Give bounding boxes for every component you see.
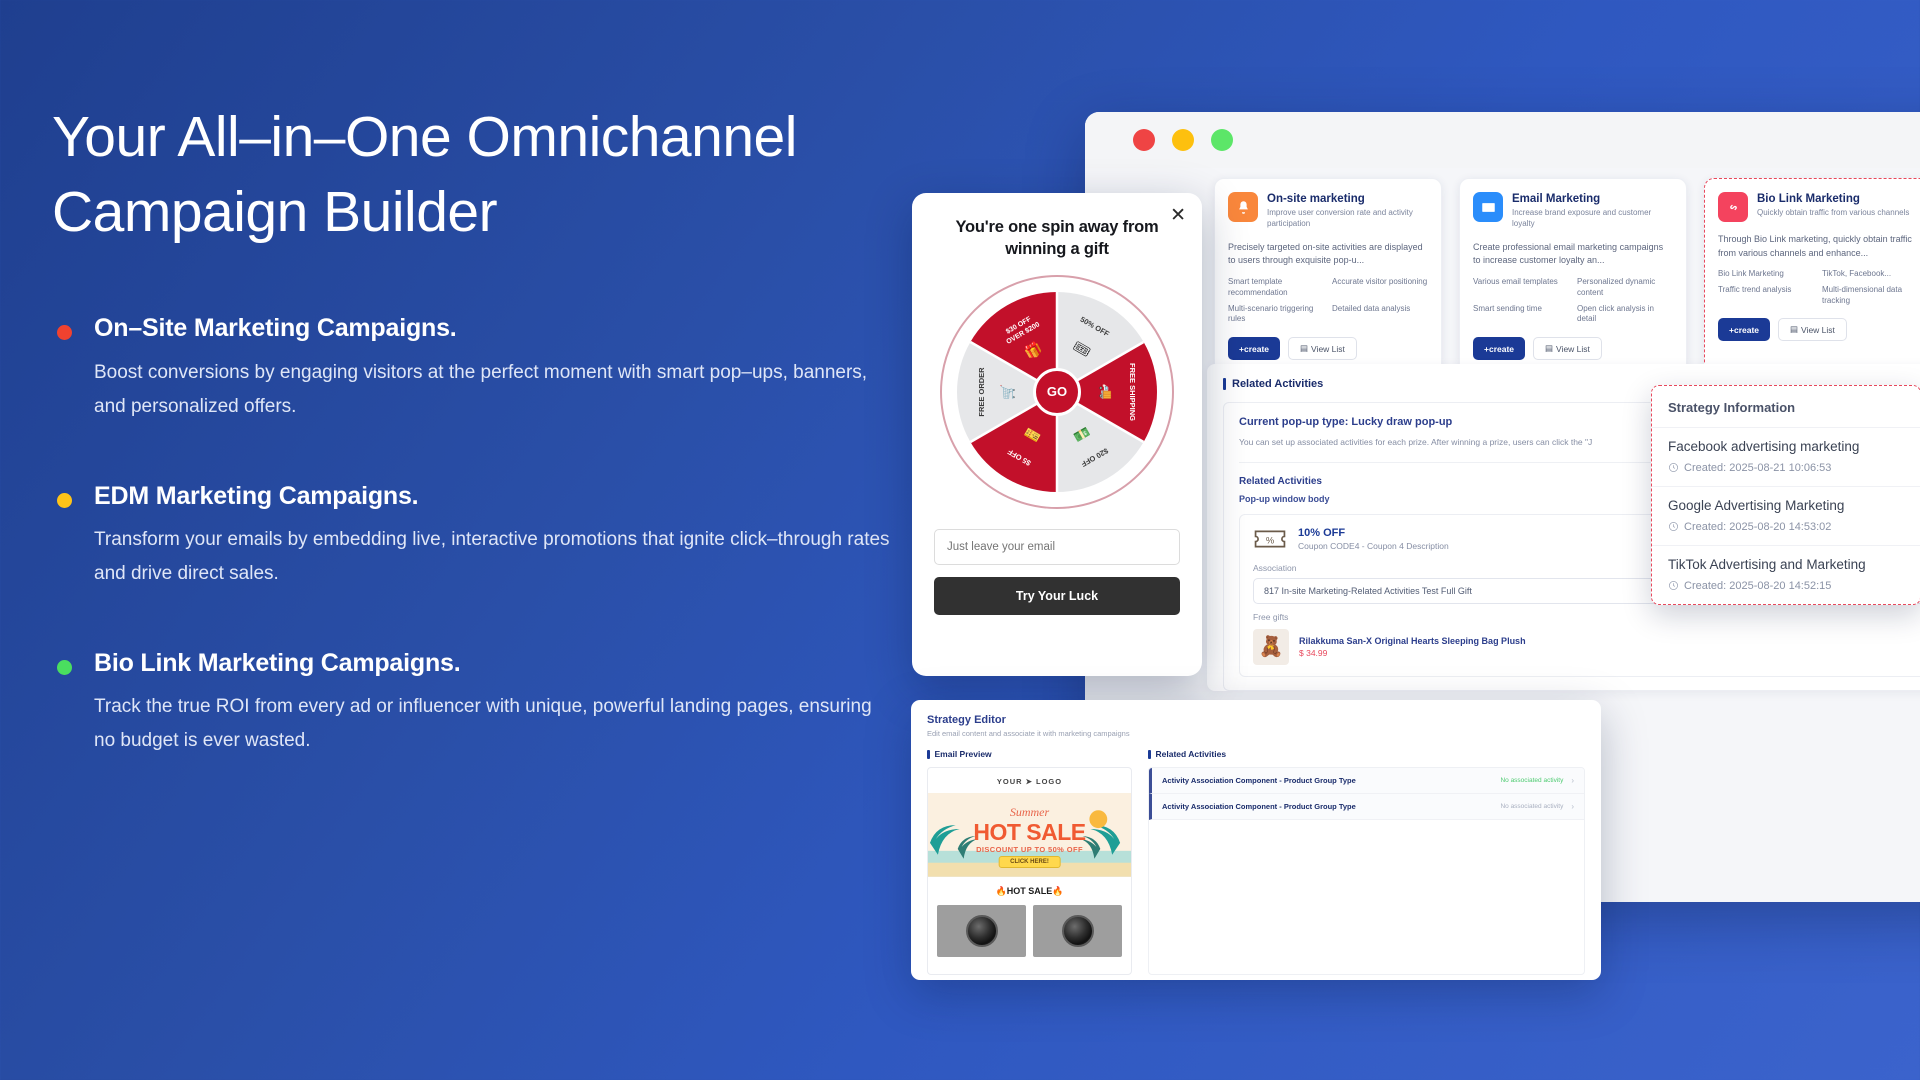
activity-name: Activity Association Component - Product… bbox=[1162, 802, 1356, 811]
card-feature: Multi-scenario triggering rules bbox=[1228, 304, 1324, 326]
strategy-editor-columns: Email Preview YOUR ➤ LOGO bbox=[927, 749, 1585, 975]
email-input[interactable] bbox=[934, 529, 1180, 565]
card-description: Through Bio Link marketing, quickly obta… bbox=[1718, 233, 1918, 260]
strategy-list-item[interactable]: Facebook advertising marketing Created: … bbox=[1652, 427, 1920, 486]
strategy-name: Facebook advertising marketing bbox=[1668, 439, 1904, 456]
card-subtitle: Increase brand exposure and customer loy… bbox=[1512, 208, 1673, 230]
view-list-button[interactable]: ▤ View List bbox=[1778, 318, 1847, 341]
svg-text:FREE SHIPPING: FREE SHIPPING bbox=[1128, 363, 1137, 421]
heading-label: Email Preview bbox=[935, 749, 992, 759]
strategy-created: Created: 2025-08-21 10:06:53 bbox=[1668, 462, 1904, 474]
card-feature: Personalized dynamic content bbox=[1577, 277, 1673, 299]
gift-name: Rilakkuma San-X Original Hearts Sleeping… bbox=[1299, 636, 1526, 646]
card-header: Email Marketing Increase brand exposure … bbox=[1473, 192, 1673, 230]
card-title: Email Marketing bbox=[1512, 192, 1673, 206]
activity-row-right: No associated activity › bbox=[1500, 776, 1574, 785]
related-activities-column: Related Activities Activity Association … bbox=[1148, 749, 1585, 975]
created-label: Created: 2025-08-21 10:06:53 bbox=[1684, 462, 1831, 474]
card-actions: +create ▤ View List bbox=[1718, 318, 1918, 341]
popup-title: You're one spin away from winning a gift bbox=[934, 217, 1180, 261]
minimize-dot[interactable] bbox=[1172, 129, 1194, 151]
card-header: Bio Link Marketing Quickly obtain traffi… bbox=[1718, 192, 1918, 222]
card-feature: TikTok, Facebook... bbox=[1822, 269, 1918, 280]
card-feature-grid: Bio Link Marketing TikTok, Facebook... T… bbox=[1718, 269, 1918, 306]
coupon-description: Coupon CODE4 - Coupon 4 Description bbox=[1298, 541, 1449, 551]
close-dot[interactable] bbox=[1133, 129, 1155, 151]
free-gifts-label: Free gifts bbox=[1253, 612, 1920, 622]
create-button[interactable]: +create bbox=[1228, 337, 1280, 360]
card-feature: Accurate visitor positioning bbox=[1332, 277, 1428, 299]
coupon-name: 10% OFF bbox=[1298, 527, 1449, 539]
strategy-list-item[interactable]: TikTok Advertising and Marketing Created… bbox=[1652, 545, 1920, 604]
card-subtitle: Improve user conversion rate and activit… bbox=[1267, 208, 1428, 230]
close-icon[interactable]: ✕ bbox=[1170, 206, 1186, 225]
activity-status: No associated activity bbox=[1500, 803, 1563, 810]
wheel-outer-ring: 50% OFF FREE SHIPPING $20 OFF $5 OFF FRE… bbox=[940, 275, 1174, 509]
strategy-info-heading: Strategy Information bbox=[1652, 386, 1920, 427]
spin-go-button[interactable]: GO bbox=[1033, 368, 1081, 416]
heading-bar bbox=[1223, 378, 1226, 390]
activity-row-right: No associated activity › bbox=[1500, 802, 1574, 811]
email-summer-label: Summer bbox=[928, 805, 1131, 820]
hero-section: Your All–in–One Omnichannel Campaign Bui… bbox=[52, 100, 952, 758]
gift-thumbnail: 🧸 bbox=[1253, 629, 1289, 665]
email-hot-sale-label: HOT SALE bbox=[928, 819, 1131, 846]
list-icon: ▤ bbox=[1300, 343, 1308, 354]
feature-item-edm: EDM Marketing Campaigns. Transform your … bbox=[52, 480, 952, 591]
view-list-label: View List bbox=[1556, 344, 1590, 354]
strategy-information-panel: Strategy Information Facebook advertisin… bbox=[1651, 385, 1920, 605]
activity-row[interactable]: Activity Association Component - Product… bbox=[1149, 768, 1584, 794]
strategy-list-item[interactable]: Google Advertising Marketing Created: 20… bbox=[1652, 486, 1920, 545]
view-list-button[interactable]: ▤ View List bbox=[1533, 337, 1602, 360]
product-thumbnail bbox=[1033, 905, 1122, 957]
wheel-container: 50% OFF FREE SHIPPING $20 OFF $5 OFF FRE… bbox=[934, 275, 1180, 509]
heading-bar bbox=[927, 750, 930, 759]
bullet-dot-red bbox=[57, 325, 72, 340]
created-label: Created: 2025-08-20 14:53:02 bbox=[1684, 521, 1831, 533]
feature-item-biolink: Bio Link Marketing Campaigns. Track the … bbox=[52, 647, 952, 758]
create-button[interactable]: +create bbox=[1718, 318, 1770, 341]
created-label: Created: 2025-08-20 14:52:15 bbox=[1684, 580, 1831, 592]
list-icon: ▤ bbox=[1790, 324, 1798, 335]
email-banner: Summer HOT SALE DISCOUNT UP TO 50% OFF C… bbox=[928, 793, 1131, 877]
page-title: Your All–in–One Omnichannel Campaign Bui… bbox=[52, 100, 952, 250]
lucky-draw-popup: ✕ You're one spin away from winning a gi… bbox=[912, 193, 1202, 676]
card-feature-grid: Various email templates Personalized dyn… bbox=[1473, 277, 1673, 325]
link-icon bbox=[1718, 192, 1748, 222]
card-feature-grid: Smart template recommendation Accurate v… bbox=[1228, 277, 1428, 325]
product-thumbnail bbox=[937, 905, 1026, 957]
card-title: On-site marketing bbox=[1267, 192, 1428, 206]
feature-title: Bio Link Marketing Campaigns. bbox=[94, 647, 952, 680]
activity-row[interactable]: Activity Association Component - Product… bbox=[1149, 794, 1584, 820]
card-actions: +create ▤ View List bbox=[1473, 337, 1673, 360]
feature-item-onsite: On–Site Marketing Campaigns. Boost conve… bbox=[52, 312, 952, 423]
try-your-luck-button[interactable]: Try Your Luck bbox=[934, 577, 1180, 615]
card-feature: Detailed data analysis bbox=[1332, 304, 1428, 326]
feature-description: Boost conversions by engaging visitors a… bbox=[94, 356, 894, 424]
card-feature: Bio Link Marketing bbox=[1718, 269, 1814, 280]
strategy-editor-panel: Strategy Editor Edit email content and a… bbox=[911, 700, 1601, 980]
card-feature: Multi-dimensional data tracking bbox=[1822, 285, 1918, 307]
clock-icon bbox=[1668, 580, 1679, 591]
create-button[interactable]: +create bbox=[1473, 337, 1525, 360]
email-cta-button[interactable]: CLICK HERE! bbox=[998, 856, 1061, 868]
view-list-button[interactable]: ▤ View List bbox=[1288, 337, 1357, 360]
heading-label: Related Activities bbox=[1156, 749, 1227, 759]
card-description: Create professional email marketing camp… bbox=[1473, 241, 1673, 268]
chevron-right-icon[interactable]: › bbox=[1571, 776, 1574, 785]
card-feature: Smart template recommendation bbox=[1228, 277, 1324, 299]
clock-icon bbox=[1668, 462, 1679, 473]
strategy-name: Google Advertising Marketing bbox=[1668, 498, 1904, 515]
chevron-right-icon[interactable]: › bbox=[1571, 802, 1574, 811]
activity-status: No associated activity bbox=[1500, 777, 1563, 784]
strategy-name: TikTok Advertising and Marketing bbox=[1668, 557, 1904, 574]
card-onsite-marketing[interactable]: On-site marketing Improve user conversio… bbox=[1214, 178, 1442, 373]
svg-text:🚚: 🚚 bbox=[1099, 383, 1114, 399]
svg-text:FREE ORDER: FREE ORDER bbox=[977, 366, 986, 416]
card-feature: Smart sending time bbox=[1473, 304, 1569, 326]
clock-icon bbox=[1668, 521, 1679, 532]
feature-title: On–Site Marketing Campaigns. bbox=[94, 312, 952, 345]
strategy-editor-title: Strategy Editor bbox=[927, 714, 1585, 726]
gift-price: $ 34.99 bbox=[1299, 648, 1526, 658]
card-title: Bio Link Marketing bbox=[1757, 192, 1909, 206]
heading-bar bbox=[1148, 750, 1151, 759]
card-header: On-site marketing Improve user conversio… bbox=[1228, 192, 1428, 230]
related-activities-heading: Related Activities bbox=[1148, 749, 1585, 759]
svg-text:%: % bbox=[1266, 535, 1274, 545]
strategy-editor-subtitle: Edit email content and associate it with… bbox=[927, 729, 1585, 738]
prize-wheel[interactable]: 50% OFF FREE SHIPPING $20 OFF $5 OFF FRE… bbox=[952, 287, 1162, 497]
card-actions: +create ▤ View List bbox=[1228, 337, 1428, 360]
camera-lens-icon bbox=[1062, 915, 1094, 947]
list-icon: ▤ bbox=[1545, 343, 1553, 354]
view-list-label: View List bbox=[1801, 325, 1835, 335]
feature-title: EDM Marketing Campaigns. bbox=[94, 480, 952, 513]
maximize-dot[interactable] bbox=[1211, 129, 1233, 151]
email-preview-column: Email Preview YOUR ➤ LOGO bbox=[927, 749, 1132, 975]
card-email-marketing[interactable]: Email Marketing Increase brand exposure … bbox=[1459, 178, 1687, 373]
strategy-created: Created: 2025-08-20 14:52:15 bbox=[1668, 580, 1904, 592]
view-list-label: View List bbox=[1311, 344, 1345, 354]
bullet-dot-green bbox=[57, 660, 72, 675]
strategy-created: Created: 2025-08-20 14:53:02 bbox=[1668, 521, 1904, 533]
envelope-icon bbox=[1473, 192, 1503, 222]
card-subtitle: Quickly obtain traffic from various chan… bbox=[1757, 208, 1909, 219]
bell-icon bbox=[1228, 192, 1258, 222]
gift-row: 🧸 Rilakkuma San-X Original Hearts Sleepi… bbox=[1253, 629, 1920, 665]
email-preview: YOUR ➤ LOGO bbox=[927, 767, 1132, 975]
bullet-dot-yellow bbox=[57, 493, 72, 508]
email-section-label: 🔥HOT SALE🔥 bbox=[928, 877, 1131, 905]
heading-label: Related Activities bbox=[1232, 378, 1323, 390]
activity-name: Activity Association Component - Product… bbox=[1162, 776, 1356, 785]
email-preview-heading: Email Preview bbox=[927, 749, 1132, 759]
card-description: Precisely targeted on-site activities ar… bbox=[1228, 241, 1428, 268]
email-product-grid bbox=[928, 905, 1131, 957]
camera-lens-icon bbox=[966, 915, 998, 947]
svg-text:🛒: 🛒 bbox=[1000, 383, 1015, 399]
marketing-cards-row: On-site marketing Improve user conversio… bbox=[1214, 178, 1920, 373]
feature-description: Transform your emails by embedding live,… bbox=[94, 523, 894, 591]
card-bio-link-marketing[interactable]: Bio Link Marketing Quickly obtain traffi… bbox=[1704, 178, 1920, 373]
browser-titlebar bbox=[1085, 112, 1920, 168]
feature-description: Track the true ROI from every ad or infl… bbox=[94, 690, 894, 758]
card-feature: Traffic trend analysis bbox=[1718, 285, 1814, 307]
coupon-icon: % bbox=[1253, 526, 1287, 552]
activity-list: Activity Association Component - Product… bbox=[1148, 767, 1585, 975]
email-discount-label: DISCOUNT UP TO 50% OFF bbox=[928, 845, 1131, 854]
email-logo: YOUR ➤ LOGO bbox=[928, 768, 1131, 793]
feature-list: On–Site Marketing Campaigns. Boost conve… bbox=[52, 312, 952, 757]
card-feature: Various email templates bbox=[1473, 277, 1569, 299]
card-feature: Open click analysis in detail bbox=[1577, 304, 1673, 326]
